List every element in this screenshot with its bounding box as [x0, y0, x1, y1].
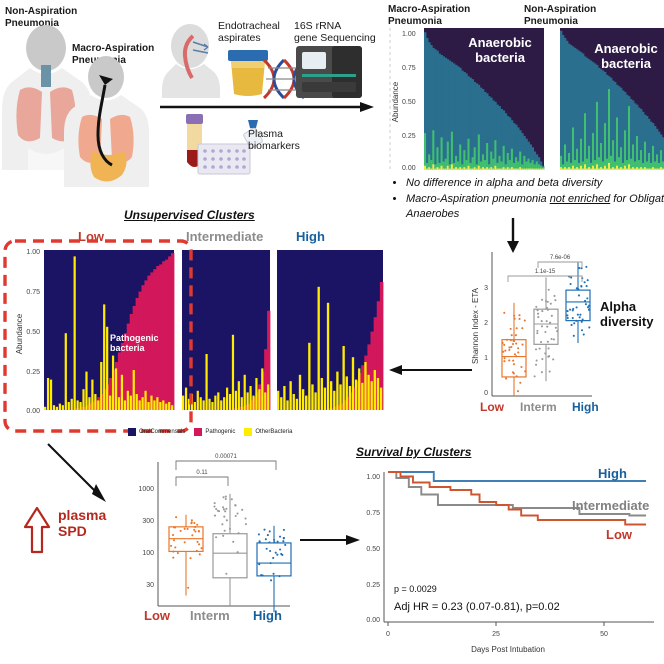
- curve-label-high: High: [598, 466, 627, 481]
- xtick-50: 50: [600, 631, 608, 638]
- ytick-3: 3: [484, 285, 488, 292]
- unsupervised-clusters-heading: Unsupervised Clusters: [124, 208, 255, 222]
- spd-xtick-low: Low: [144, 608, 170, 623]
- label-line1: 16S rRNA: [294, 20, 382, 32]
- ytick-100: 1.00: [366, 474, 380, 481]
- survival-pvalue: p = 0.0029: [394, 584, 437, 594]
- cluster-title-intermediate: Intermediate: [186, 229, 263, 244]
- xaxis-label: Days Post Intubation: [471, 645, 545, 654]
- pvalue-bracket-low-high: [176, 461, 276, 470]
- cluster-legend: OralCommensals Pathogenic OtherBacteria: [128, 428, 292, 436]
- yaxis-label: Shannon Index - ETA: [471, 287, 480, 364]
- anaerobic-overlay-right: Anaerobic bacteria: [578, 42, 664, 72]
- legend-item-otherbacteria: OtherBacteria: [244, 428, 292, 436]
- ytick-000: 0.00: [366, 617, 380, 624]
- anaerobic-overlay-left: Anaerobic bacteria: [452, 36, 548, 66]
- alpha-xtick-high: High: [572, 400, 599, 414]
- survival-hazard-ratio: Adj HR = 0.23 (0.07-0.81), p=0.02: [394, 601, 560, 613]
- annotation-line1: Alpha: [600, 300, 660, 315]
- curve-label-low: Low: [606, 527, 632, 542]
- legend-swatch: [244, 428, 252, 436]
- spd-xtick-interm: Interm: [190, 608, 230, 623]
- ytick-300: 300: [142, 518, 154, 525]
- annotation-line2: diversity: [600, 315, 660, 330]
- ytick-5: 0.00: [402, 165, 416, 172]
- finding-2-underline: not enriched: [550, 193, 611, 205]
- pvalue-bracket-upper: [538, 262, 582, 268]
- ytick-4: 0.25: [402, 133, 416, 140]
- ytick-025: 0.25: [366, 582, 380, 589]
- spd-xtick-high: High: [253, 608, 282, 623]
- title-line1: Macro-Aspiration: [388, 4, 508, 16]
- ytick-2: 2: [484, 320, 488, 327]
- alpha-xtick-low: Low: [480, 400, 504, 414]
- title-line1: Non-Aspiration: [524, 4, 644, 16]
- sequencer-icon: [294, 44, 364, 100]
- sequencing-label: 16S rRNA gene Sequencing: [294, 20, 382, 44]
- ytick-1: 1: [484, 355, 488, 362]
- overlay-line1: Anaerobic: [452, 36, 548, 51]
- xtick-25: 25: [492, 631, 500, 638]
- label-line2: aspirates: [218, 32, 303, 44]
- survival-plot: 1.00 0.75 0.50 0.25 0.00 0 25 50 Days Po…: [348, 462, 664, 660]
- overlay-line2: bacteria: [578, 57, 664, 72]
- alpha-xtick-interm: Interm: [520, 400, 557, 414]
- head-airway-icon: [160, 20, 222, 100]
- legend-swatch: [194, 428, 202, 436]
- pvalue-low-high: 0.00071: [215, 454, 237, 460]
- legend-label: OtherBacteria: [255, 429, 292, 435]
- legend-item-pathogenic: Pathogenic: [194, 428, 235, 436]
- pvalue-bracket-low-interm: [176, 477, 228, 486]
- dashed-selection-box: [2, 238, 194, 434]
- overlay-line2: bacteria: [452, 51, 548, 66]
- cluster-title-high: High: [296, 229, 325, 244]
- label-line1: Endotracheal: [218, 20, 303, 32]
- finding-2: Macro-Aspiration pneumonia not enriched …: [406, 192, 664, 222]
- legend-label: Pathogenic: [205, 429, 235, 435]
- pvalue-lower: 1.1e-15: [535, 269, 556, 275]
- finding-1: No difference in alpha and beta diversit…: [406, 176, 664, 191]
- alpha-diversity-annotation: Alpha diversity: [600, 300, 660, 330]
- yaxis-label: Abundance: [391, 81, 400, 122]
- ytick-1: 1.00: [402, 31, 416, 38]
- ytick-0: 0: [484, 390, 488, 397]
- label-line1: Plasma: [248, 128, 318, 140]
- ytick-050: 0.50: [366, 546, 380, 553]
- pvalue-upper: 7.6e-06: [550, 255, 571, 261]
- finding-2-pre: Macro-Aspiration pneumonia: [406, 193, 550, 205]
- ytick-30: 30: [146, 582, 154, 589]
- ytick-075: 0.75: [366, 510, 380, 517]
- endotracheal-aspirates-label: Endotracheal aspirates: [218, 20, 303, 44]
- top-findings-list: No difference in alpha and beta diversit…: [392, 176, 664, 223]
- label-line2: biomarkers: [248, 140, 318, 152]
- ytick-1000: 1000: [138, 486, 154, 493]
- survival-heading: Survival by Clusters: [356, 445, 471, 459]
- up-arrow-icon: [22, 505, 52, 555]
- plasma-biomarkers-label: Plasma biomarkers: [248, 128, 318, 152]
- plasma-spd-plot: 1000 300 100 30 0.00071 0.11: [110, 448, 296, 626]
- label-line2: gene Sequencing: [294, 32, 382, 44]
- ytick-100: 100: [142, 550, 154, 557]
- overlay-line1: Anaerobic: [578, 42, 664, 57]
- legend-swatch: [128, 428, 136, 436]
- xtick-0: 0: [386, 631, 390, 638]
- ytick-3: 0.50: [402, 99, 416, 106]
- curve-label-intermediate: Intermediate: [572, 498, 649, 513]
- legend-label: OralCommensals: [139, 429, 185, 435]
- alpha-diversity-plot: 3 2 1 0 Shannon Index - ETA 7.6e-06 1.1e…: [466, 246, 596, 426]
- legend-item-oralcommensals: OralCommensals: [128, 428, 185, 436]
- arrow-alpha-to-clusters: [388, 358, 474, 382]
- pvalue-low-interm: 0.11: [196, 470, 208, 476]
- ytick-2: 0.75: [402, 65, 416, 72]
